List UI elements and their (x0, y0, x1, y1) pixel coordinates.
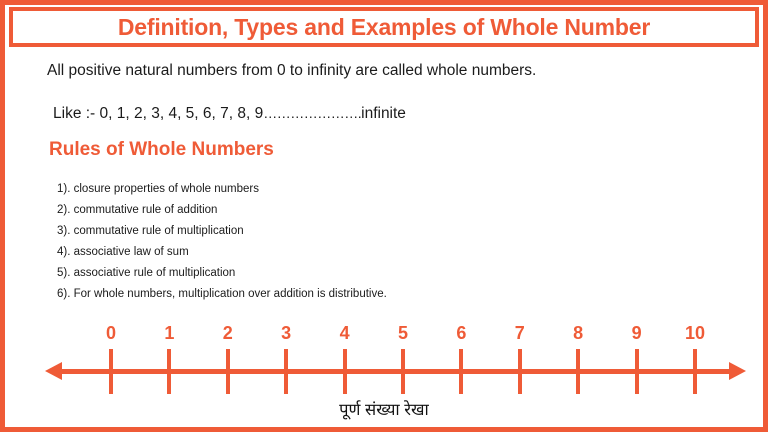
rules-list: 1). closure properties of whole numbers … (57, 179, 657, 305)
definition-text: All positive natural numbers from 0 to i… (47, 62, 536, 80)
list-item: 6). For whole numbers, multiplication ov… (57, 284, 657, 305)
page-title: Definition, Types and Examples of Whole … (118, 14, 650, 41)
tick-label: 6 (456, 323, 466, 344)
list-item: 2). commutative rule of addition (57, 200, 657, 221)
rules-heading: Rules of Whole Numbers (49, 139, 274, 161)
tick-mark (226, 349, 230, 394)
tick-label: 8 (573, 323, 583, 344)
tick-mark (343, 349, 347, 394)
tick-mark (635, 349, 639, 394)
tick-mark (167, 349, 171, 394)
tick-label: 5 (398, 323, 408, 344)
tick-mark (518, 349, 522, 394)
tick-mark (693, 349, 697, 394)
tick-label: 7 (515, 323, 525, 344)
arrow-left-icon (45, 362, 62, 380)
number-line-caption: पूर्ण संख्या रेखा (5, 397, 763, 420)
arrow-right-icon (729, 362, 746, 380)
tick-mark (576, 349, 580, 394)
tick-label: 1 (164, 323, 174, 344)
list-item: 1). closure properties of whole numbers (57, 179, 657, 200)
example-prefix: Like :- 0, 1, 2, 3, 4, 5, 6, 7, 8, 9 (53, 105, 263, 122)
page-root: Definition, Types and Examples of Whole … (0, 0, 768, 432)
example-suffix: infinite (361, 105, 406, 122)
tick-label: 0 (106, 323, 116, 344)
tick-mark (401, 349, 405, 394)
number-line-axis (61, 369, 733, 374)
tick-mark (459, 349, 463, 394)
title-banner: Definition, Types and Examples of Whole … (9, 7, 759, 47)
example-ellipsis: …………………. (263, 105, 361, 121)
tick-mark (109, 349, 113, 394)
tick-label: 3 (281, 323, 291, 344)
list-item: 4). associative law of sum (57, 242, 657, 263)
tick-label: 9 (632, 323, 642, 344)
tick-label: 4 (340, 323, 350, 344)
tick-label: 10 (685, 323, 705, 344)
list-item: 3). commutative rule of multiplication (57, 221, 657, 242)
tick-mark (284, 349, 288, 394)
example-line: Like :- 0, 1, 2, 3, 4, 5, 6, 7, 8, 9…………… (53, 105, 406, 123)
number-line-diagram: 012345678910 (5, 323, 763, 399)
tick-label: 2 (223, 323, 233, 344)
list-item: 5). associative rule of multiplication (57, 263, 657, 284)
